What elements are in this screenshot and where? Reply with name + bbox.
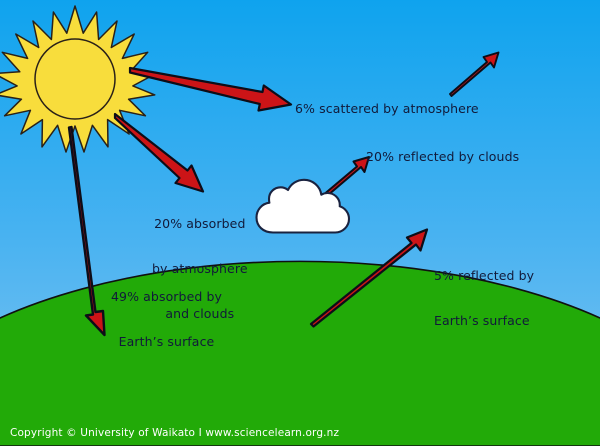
label-absorbed-by-atmosphere-line1: 20% absorbed bbox=[152, 216, 248, 231]
solar-radiation-diagram: 6% scattered by atmosphere 20% reflected… bbox=[0, 0, 600, 446]
label-reflected-by-clouds: 20% reflected by clouds bbox=[366, 149, 519, 164]
label-absorbed-by-earth-surface: 49% absorbed by Earth’s surface bbox=[111, 259, 222, 379]
label-absorbed-by-earth-surface-line1: 49% absorbed by bbox=[111, 289, 222, 304]
copyright-notice: Copyright © University of Waikato I www.… bbox=[10, 427, 339, 439]
label-absorbed-by-earth-surface-line2: Earth’s surface bbox=[111, 334, 222, 349]
label-reflected-by-earth-surface-line2: Earth’s surface bbox=[434, 313, 534, 328]
label-reflected-by-earth-surface-line1: 5% reflected by bbox=[434, 268, 534, 283]
label-reflected-by-earth-surface: 5% reflected by Earth’s surface bbox=[434, 238, 534, 358]
diagram-canvas bbox=[0, 0, 600, 446]
label-scattered-by-atmosphere: 6% scattered by atmosphere bbox=[295, 101, 479, 116]
